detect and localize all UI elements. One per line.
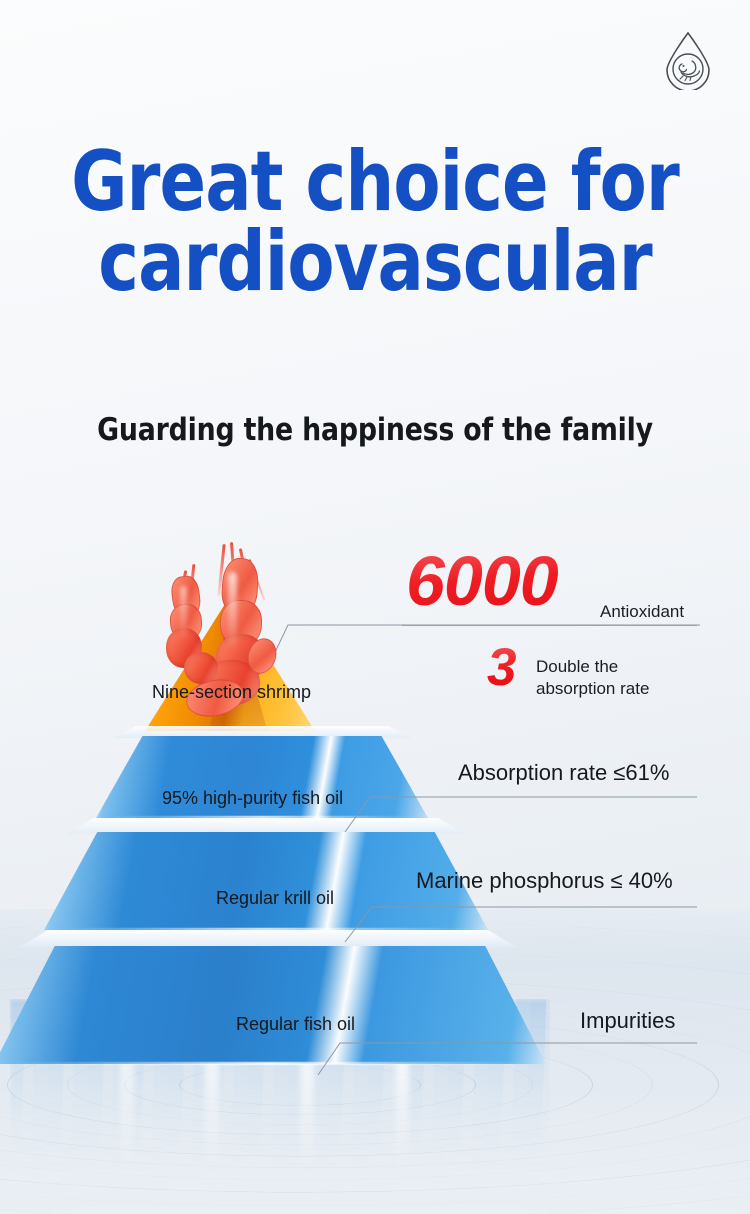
callout-impurities: Impurities <box>580 1008 675 1034</box>
tier-0-label: Nine-section shrimp <box>152 682 311 703</box>
promo-poster: Great choice for cardiovascular Guarding… <box>0 0 750 1214</box>
stat-label-absorption: Double the absorption rate <box>536 656 649 700</box>
shrimp-image <box>136 542 326 734</box>
rule-antioxidant <box>402 625 697 626</box>
stat-label-absorption-line-2: absorption rate <box>536 678 649 700</box>
stat-label-absorption-line-1: Double the <box>536 656 649 678</box>
stat-value-3: 3 <box>487 641 516 694</box>
callout-marine-phosphorus: Marine phosphorus ≤ 40% <box>416 868 673 894</box>
leader-line-apex <box>0 540 750 740</box>
callout-absorption-rate: Absorption rate ≤61% <box>458 760 669 786</box>
stat-value-6000: 6000 <box>406 546 558 616</box>
stat-label-antioxidant: Antioxidant <box>600 602 684 622</box>
